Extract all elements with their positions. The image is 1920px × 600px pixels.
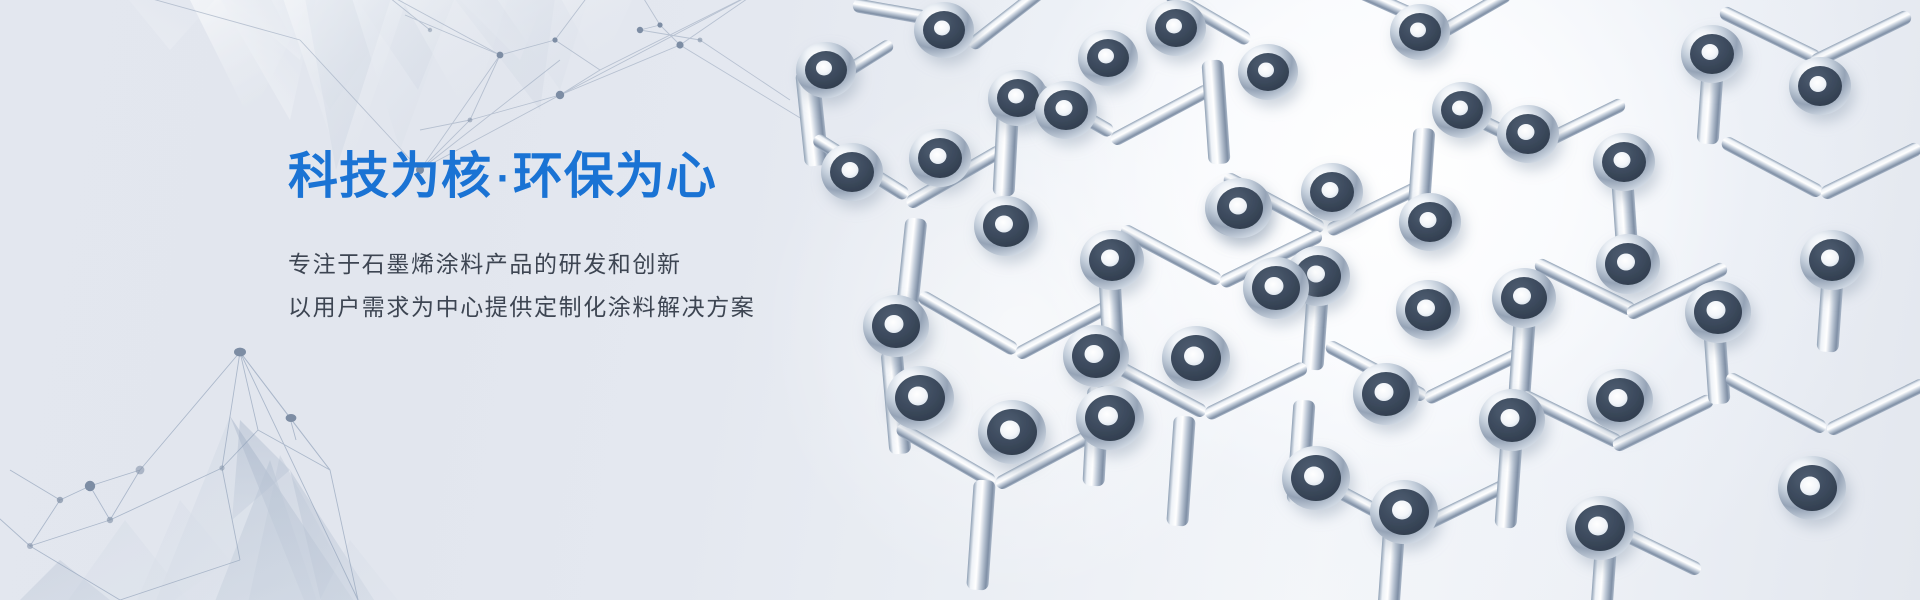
lattice-nodes: [796, 0, 1864, 560]
headline-part-1: 科技为核: [288, 147, 492, 205]
headline-part-2: 环保为心: [513, 147, 717, 205]
page-title: 科技为核·环保为心: [288, 148, 908, 204]
background-glow-secondary: [760, 60, 1280, 600]
subtitle-line-1: 专注于石墨烯涂料产品的研发和创新: [288, 244, 908, 287]
background-glow: [980, 0, 1880, 600]
hero-copy: 科技为核·环保为心 专注于石墨烯涂料产品的研发和创新 以用户需求为中心提供定制化…: [288, 148, 908, 330]
hero-subtitle: 专注于石墨烯涂料产品的研发和创新 以用户需求为中心提供定制化涂料解决方案: [288, 244, 908, 330]
headline-separator: ·: [492, 159, 513, 199]
subtitle-line-2: 以用户需求为中心提供定制化涂料解决方案: [288, 287, 908, 330]
hero-banner: 科技为核·环保为心 专注于石墨烯涂料产品的研发和创新 以用户需求为中心提供定制化…: [0, 0, 1920, 600]
